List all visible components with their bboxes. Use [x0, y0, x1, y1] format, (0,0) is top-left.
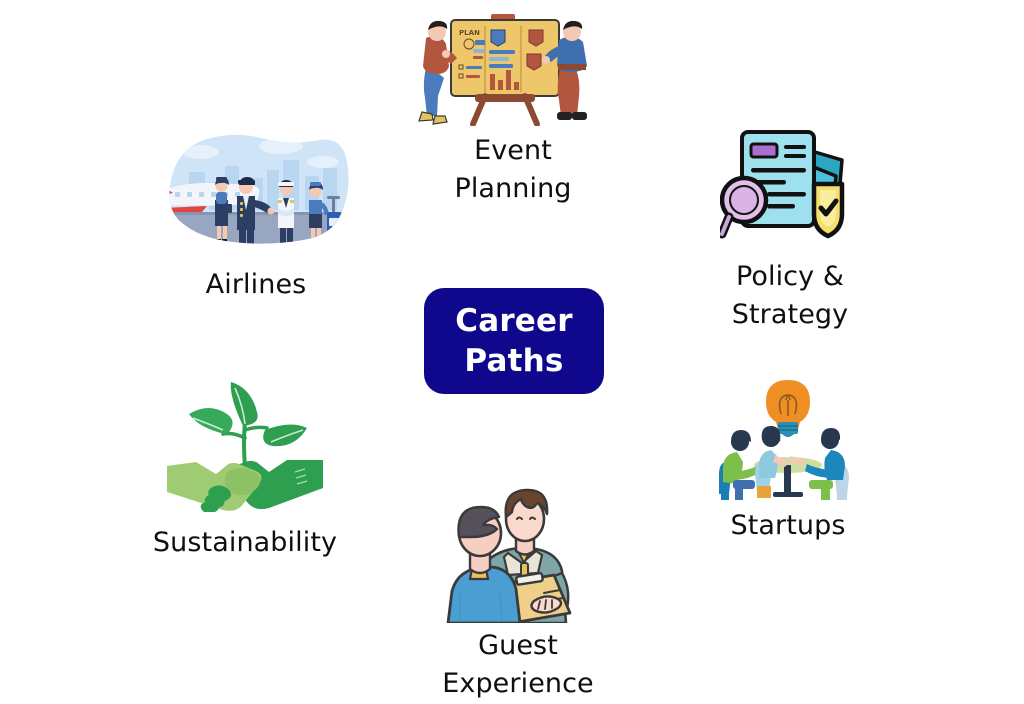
node-sustainability-label: Sustainability: [153, 524, 337, 562]
event-planning-illustration: PLAN: [413, 8, 613, 126]
svg-text:PLAN: PLAN: [459, 29, 480, 37]
node-policy-strategy[interactable]: Policy & Strategy: [700, 122, 880, 335]
node-guest-experience-label: Guest Experience: [442, 627, 594, 704]
node-policy-strategy-label: Policy & Strategy: [732, 258, 849, 335]
node-airlines[interactable]: Airlines: [158, 130, 354, 304]
airline-crew-illustration: [161, 130, 351, 258]
node-startups[interactable]: Startups: [708, 376, 868, 545]
node-guest-experience[interactable]: Guest Experience: [418, 487, 618, 704]
node-event-planning-label: Event Planning: [454, 132, 571, 209]
team-lightbulb-illustration: [713, 376, 863, 501]
center-hub-badge[interactable]: Career Paths: [424, 288, 604, 394]
guest-service-illustration: [438, 487, 598, 623]
node-startups-label: Startups: [730, 507, 845, 545]
node-airlines-label: Airlines: [206, 266, 307, 304]
node-event-planning[interactable]: PLAN: [413, 8, 613, 209]
handshake-plant-icon: [165, 372, 325, 512]
diagram-canvas: Career Paths PLAN: [0, 0, 1024, 683]
center-hub-label: Career Paths: [455, 301, 573, 382]
policy-document-shield-icon: [720, 122, 860, 250]
node-sustainability[interactable]: Sustainability: [145, 372, 345, 562]
